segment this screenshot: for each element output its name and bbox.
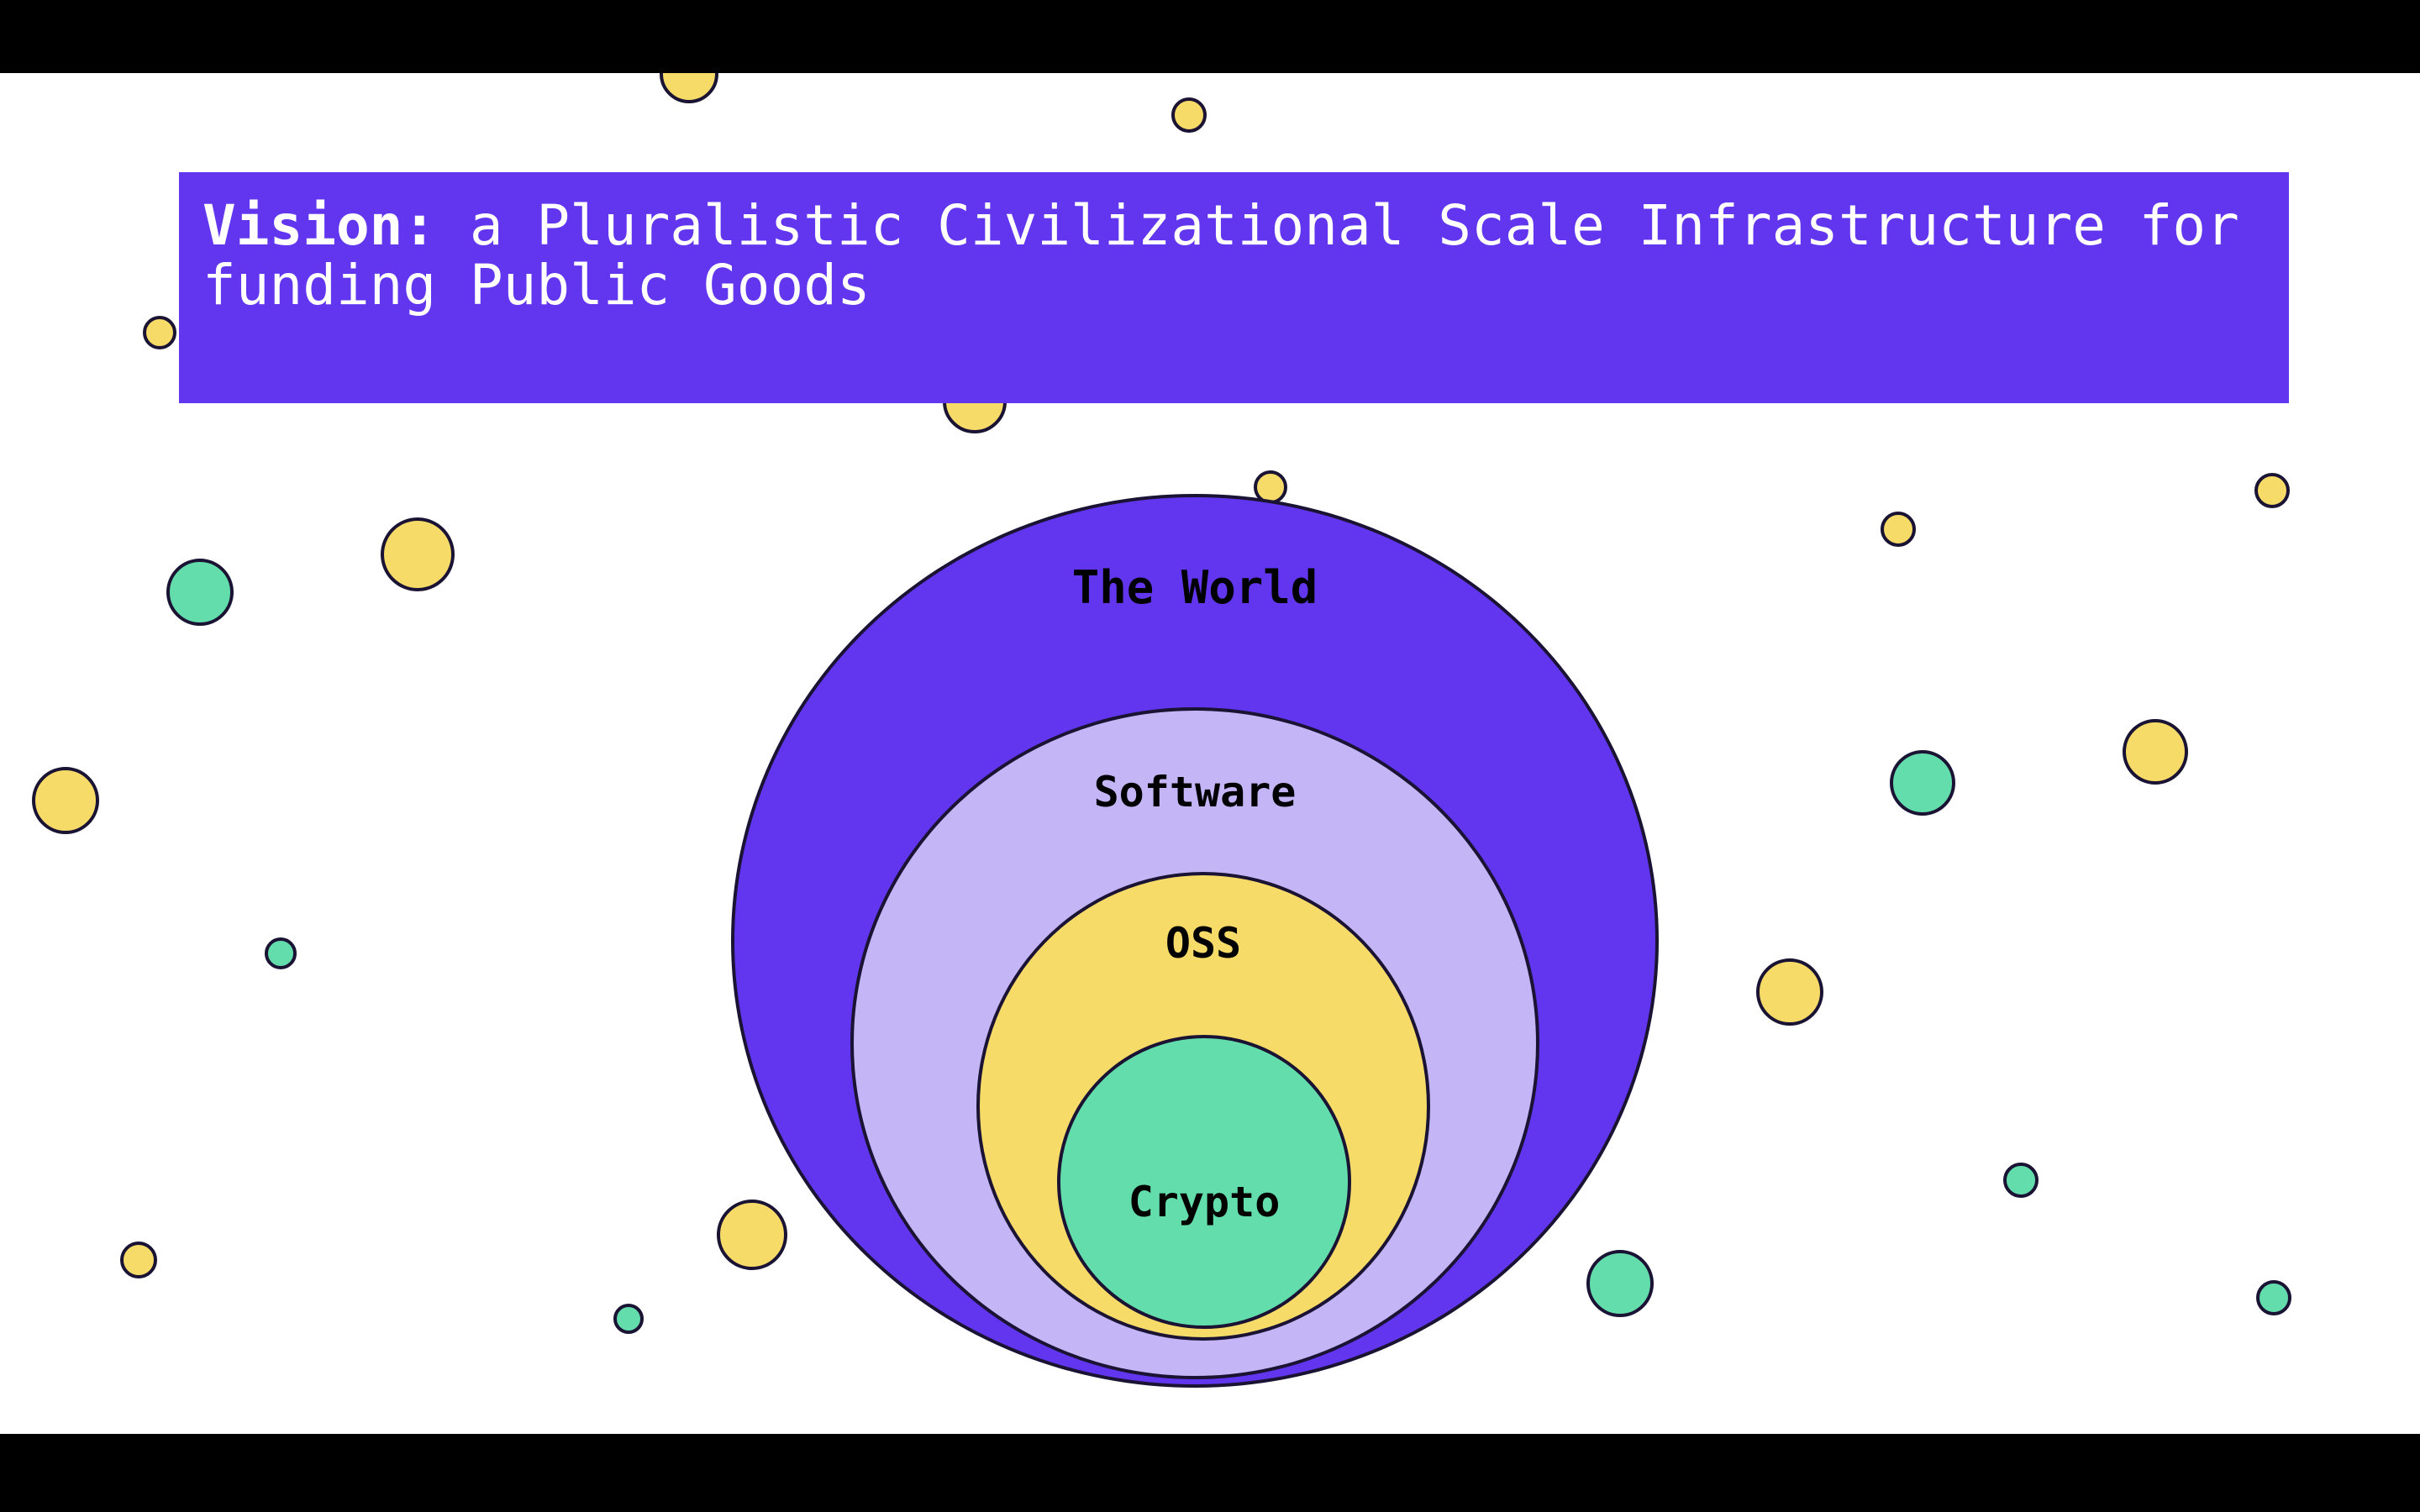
slide-canvas: The World Software OSS Crypto Vision: a … — [0, 0, 2420, 1512]
circle-label-oss: OSS — [980, 919, 1427, 968]
circle-label-the-world: The World — [734, 561, 1655, 614]
slide-title-rest: a Pluralistic Civilizational Scale Infra… — [203, 193, 2273, 318]
slide-title-lead: Vision: — [203, 193, 436, 258]
slide-title: Vision: a Pluralistic Civilizational Sca… — [203, 196, 2289, 316]
circle-label-software: Software — [854, 768, 1536, 816]
letterbox-bar-bottom — [0, 1434, 2420, 1512]
circle-crypto: Crypto — [1057, 1035, 1351, 1329]
circle-label-crypto: Crypto — [1060, 1178, 1348, 1226]
letterbox-bar-top — [0, 0, 2420, 73]
title-banner: Vision: a Pluralistic Civilizational Sca… — [179, 172, 2289, 403]
